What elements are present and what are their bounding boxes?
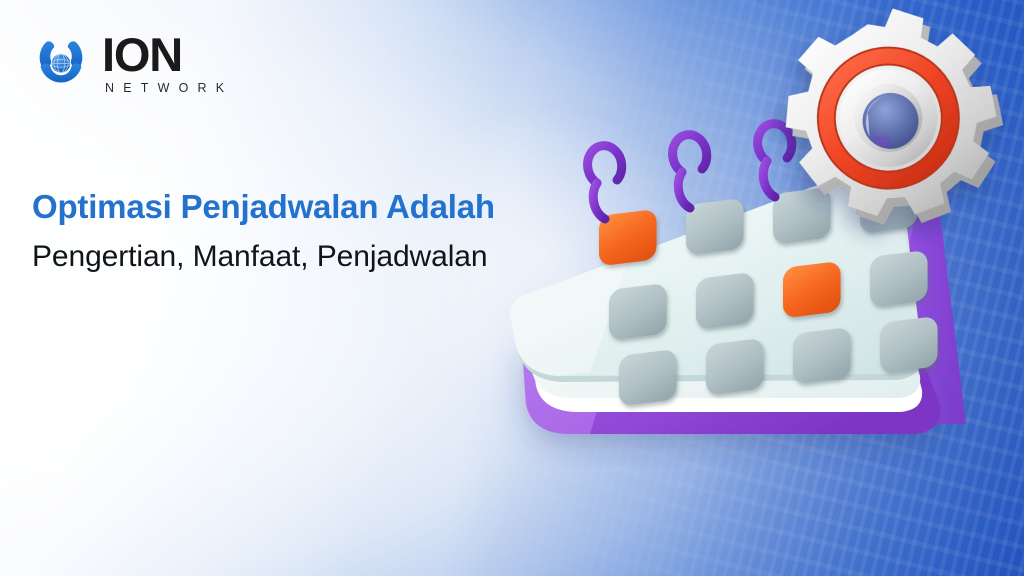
calendar-cell — [609, 283, 667, 340]
page-subtitle: Pengertian, Manfaat, Penjadwalan — [32, 237, 502, 276]
calendar-cell — [619, 349, 677, 406]
calendar-cell — [696, 272, 754, 329]
calendar-with-gear-illustration — [470, 0, 1024, 576]
logo-wordmark: ION — [102, 33, 233, 78]
calendar-cell — [880, 316, 938, 373]
page-title: Optimasi Penjadwalan Adalah — [32, 186, 502, 228]
logo-wordmark-group: ION NETWORK — [102, 33, 233, 94]
calendar-cell — [870, 250, 928, 307]
ion-globe-arcs-icon — [30, 33, 92, 95]
headline-block: Optimasi Penjadwalan Adalah Pengertian, … — [32, 186, 502, 276]
calendar-cell — [793, 327, 851, 384]
calendar-cell — [773, 187, 831, 244]
illustration-svg — [470, 0, 1024, 576]
calendar-cell-highlight — [783, 261, 841, 318]
promo-banner: ION NETWORK Optimasi Penjadwalan Adalah … — [0, 0, 1024, 576]
logo-tagline: NETWORK — [105, 82, 233, 95]
calendar-cell — [706, 338, 764, 395]
calendar-cell — [686, 198, 744, 255]
brand-logo[interactable]: ION NETWORK — [30, 33, 233, 95]
